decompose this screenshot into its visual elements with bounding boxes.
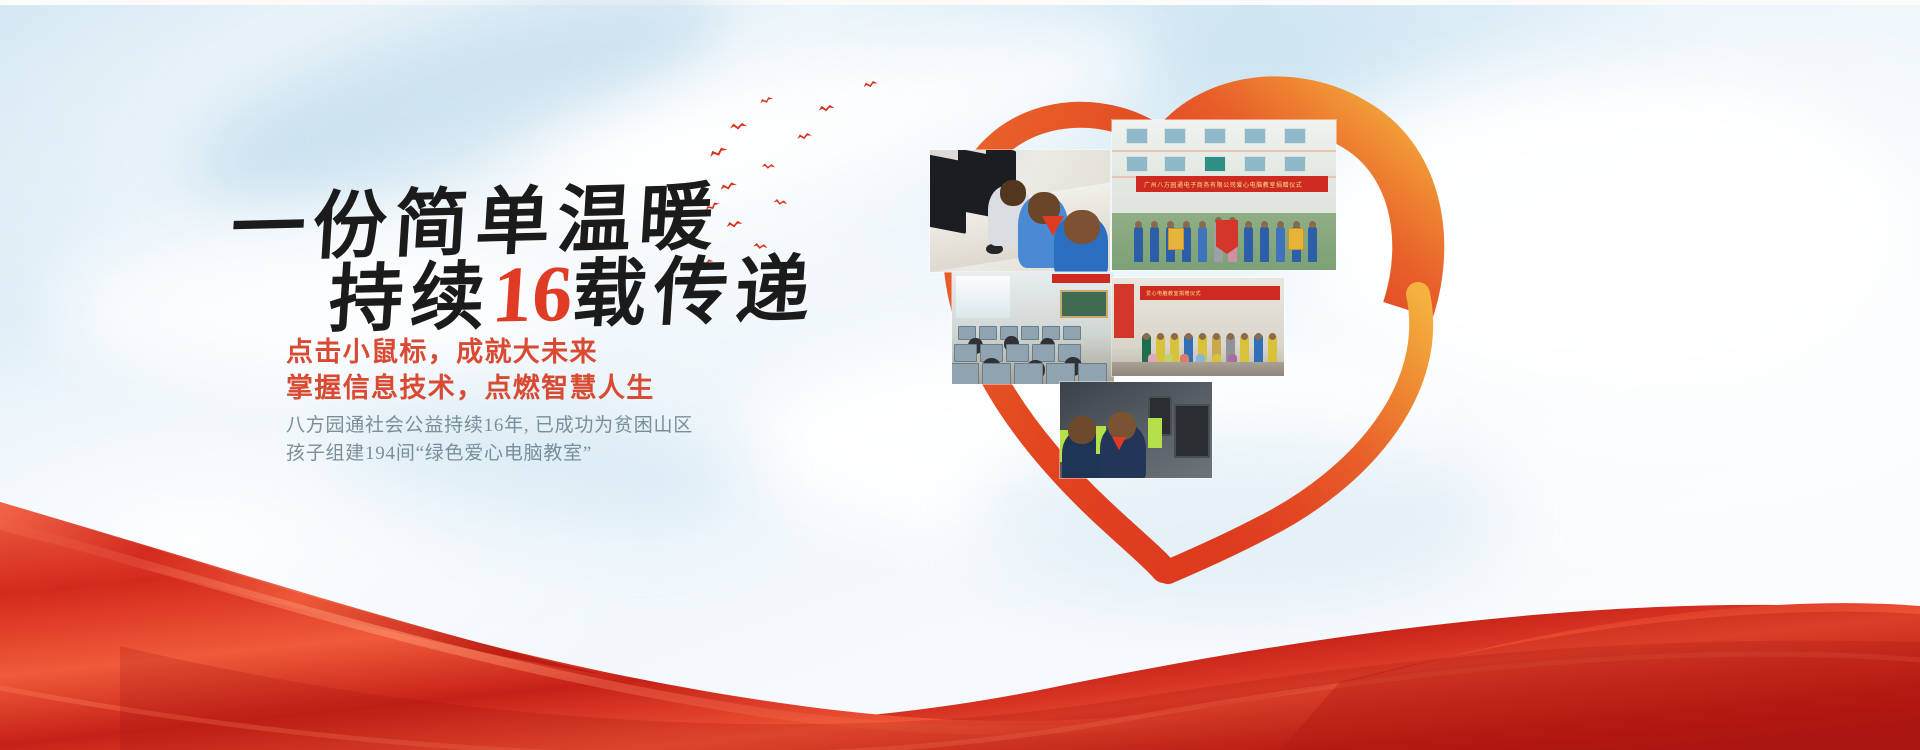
- photo-computer-lab-closeup: [930, 150, 1110, 272]
- ceremony-banner-indoor-text: 爱心电脑教室捐赠仪式: [1146, 290, 1201, 297]
- ceremony-banner-outdoor: 广州八方园通电子商务有限公司爱心电脑教室捐赠仪式: [1136, 176, 1328, 192]
- photo-indoor-group-ceremony: 爱心电脑教室捐赠仪式: [1112, 278, 1284, 376]
- photo-school-donation-ceremony: 广州八方园通电子商务有限公司爱心电脑教室捐赠仪式: [1112, 120, 1336, 270]
- red-silk-ribbon-icon: [0, 420, 1920, 750]
- ceremony-banner-text: 广州八方园通电子商务有限公司爱心电脑教室捐赠仪式: [1144, 180, 1302, 189]
- ceremony-banner-indoor: 爱心电脑教室捐赠仪式: [1140, 286, 1280, 300]
- slogan-line-2: 掌握信息技术，点燃智慧人生: [286, 366, 655, 405]
- headline-year-count: 16: [489, 250, 575, 340]
- slogan-line-1: 点击小鼠标，成就大未来: [286, 330, 598, 369]
- charity-hero-banner: 广州八方园通电子商务有限公司爱心电脑教室捐赠仪式 爱心电脑教室捐赠仪式: [0, 0, 1920, 750]
- photo-computer-classroom-wide: [952, 272, 1114, 384]
- headline-line-2-suffix: 载传递: [570, 250, 820, 337]
